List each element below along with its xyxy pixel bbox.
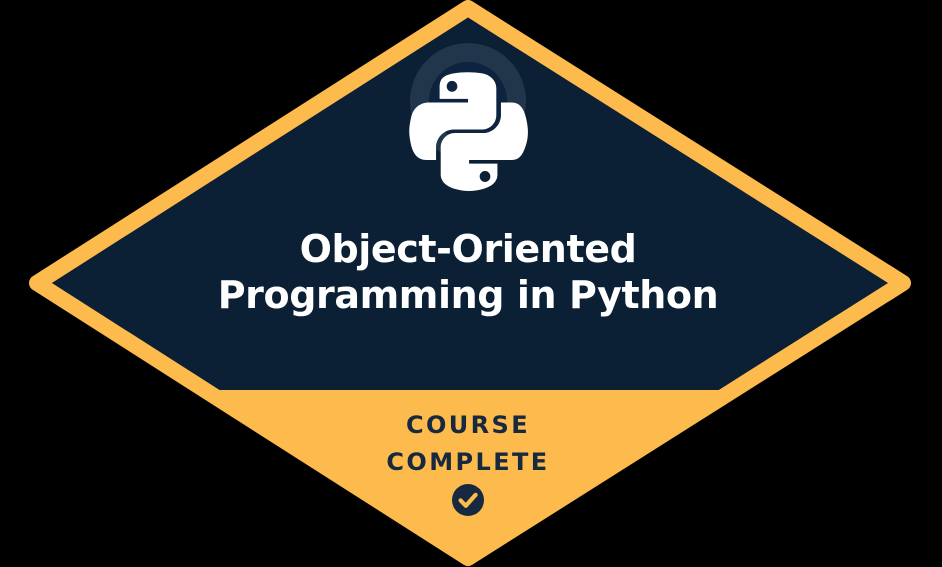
course-title-line-1: Object-Oriented [300,227,637,271]
badge-canvas: Object-Oriented Programming in Python CO… [0,0,942,567]
course-completion-badge: Object-Oriented Programming in Python CO… [0,0,942,567]
status-label-line-2: COMPLETE [386,448,549,476]
check-circle-icon [452,484,484,516]
check-circle-disc [452,484,484,516]
status-label-line-1: COURSE [406,411,530,439]
badge-body: Object-Oriented Programming in Python CO… [0,0,942,567]
course-title-line-2: Programming in Python [218,273,719,317]
